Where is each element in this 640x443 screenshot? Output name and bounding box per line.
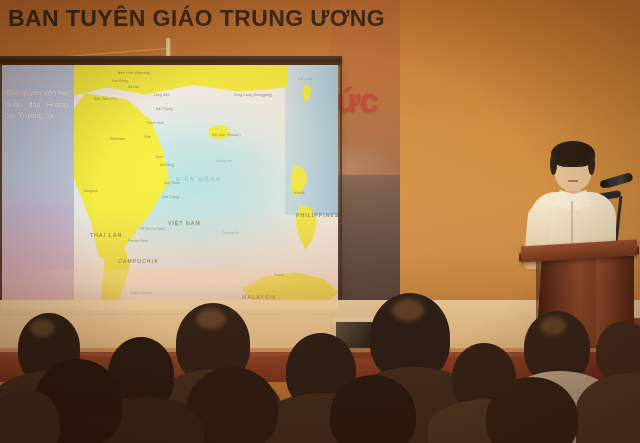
- speaker-eye-left: [562, 165, 568, 167]
- map-label-hanoi: Hà Nội: [128, 85, 139, 89]
- slide-title-panel: Chủ quyền trên hai quần đảo Hoàng Sa, Tr…: [0, 65, 74, 257]
- map-islands-paracel: · · ·: [206, 169, 213, 174]
- map-label-hainan: Hải Nam (Hainan): [212, 133, 241, 137]
- map-label-philippines: PHILIPPINES: [296, 213, 338, 219]
- map-label-vinh: Vinh: [144, 135, 151, 139]
- banner-text-fragment: ức: [336, 84, 378, 118]
- map-label-thailand: THAI LAN: [90, 233, 122, 239]
- speaker-eye-right: [577, 165, 583, 167]
- audience-hair-highlight: [196, 309, 226, 329]
- map-deep-sea: [285, 65, 338, 215]
- map-label-thanh-hoa: Thanh Hoá: [146, 121, 164, 125]
- map-label-nha-trang: Nha Trang: [162, 195, 179, 199]
- audience-hair-highlight: [30, 319, 54, 337]
- map-label-phnom-penh: Phnom Penh: [128, 239, 148, 243]
- speaker-hair-side-right: [588, 153, 595, 175]
- audience-hair-highlight: [392, 299, 424, 321]
- map-label-vietnam: VIỆT NAM: [168, 221, 201, 227]
- map-label-dien-bien-phu: Điện Biên Phủ: [94, 97, 117, 101]
- audience-hair-highlight: [540, 317, 566, 335]
- map-label-truong-sa: Trường Sa: [222, 231, 239, 235]
- map-label-hai-phong: Hải Phòng: [156, 107, 173, 111]
- speaker-hair-side-left: [550, 153, 557, 175]
- map-label-lang-son: Lạng Sơn: [154, 93, 170, 97]
- audience-group: [0, 293, 640, 443]
- map-label-da-nang: Đà Nẵng: [160, 163, 174, 167]
- map-label-manila: Manila: [294, 191, 305, 195]
- speaker-mouth: [568, 180, 578, 182]
- hall-title: BAN TUYÊN GIÁO TRUNG ƯƠNG: [8, 6, 408, 31]
- slide-title-text: Chủ quyền trên hai quần đảo Hoàng Sa, Tr…: [6, 87, 68, 122]
- map-label-nanning: Nam Ninh (Nanning): [118, 71, 151, 75]
- map-label-vientiane: Vientiane: [110, 137, 125, 141]
- map-label-hong-kong: Hong Kong (Xianggang): [234, 93, 272, 97]
- map-label-hue: Huế: [156, 155, 162, 159]
- map-label-ho-chi-minh-city: TP Hồ Chí Minh: [140, 227, 165, 231]
- photo-scene: ức BAN TUYÊN GIÁO TRUNG ƯƠNG BIỂN ĐÔNG V…: [0, 0, 640, 443]
- presentation-slide: BIỂN ĐÔNG VIỆT NAM CAMPUCHIA THAI LAN MA…: [0, 65, 338, 310]
- map-label-hoang-sa: Hoàng Sa: [216, 159, 232, 163]
- map-label-bangkok: Bangkok: [84, 189, 98, 193]
- screen-roller-bar: [0, 56, 342, 65]
- map-label-brunei: Brunei: [274, 273, 284, 277]
- projection-screen: BIỂN ĐÔNG VIỆT NAM CAMPUCHIA THAI LAN MA…: [0, 65, 338, 310]
- map-label-taiwan: Đài Loan: [298, 77, 312, 81]
- map-label-campuchia: CAMPUCHIA: [118, 259, 159, 265]
- map-label-east-sea: BIỂN ĐÔNG: [176, 177, 222, 183]
- map-label-cao-bang: Cao Bằng: [112, 79, 128, 83]
- map-label-quy-nhon: Quy Nhơn: [164, 181, 180, 185]
